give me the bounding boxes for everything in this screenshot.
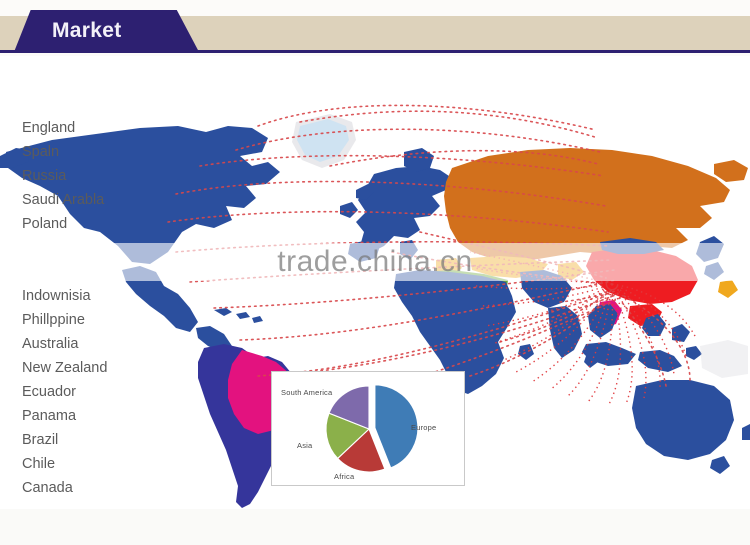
country-item: Russia: [22, 164, 104, 188]
page-header: Market: [0, 0, 750, 56]
market-country-list-group-a: England Spaln Russia Saudi Arabla Poland: [22, 116, 104, 236]
pie-slices: [326, 385, 418, 472]
country-item: Indownisia: [22, 284, 107, 308]
country-item: Spaln: [22, 140, 104, 164]
market-country-list-group-b: Indownisia Phillppine Australia New Zeal…: [22, 284, 107, 500]
country-item: Ecuador: [22, 380, 107, 404]
country-item: Australia: [22, 332, 107, 356]
country-item: Panama: [22, 404, 107, 428]
country-item: Canada: [22, 476, 107, 500]
country-item: Brazil: [22, 428, 107, 452]
market-page: Market .land{fill:#2b4f9e;} .land2{fill:…: [0, 0, 750, 545]
country-item: New Zealand: [22, 356, 107, 380]
country-item: Saudi Arabla: [22, 188, 104, 212]
page-footer: [0, 509, 750, 545]
country-item: Phillppine: [22, 308, 107, 332]
pie-chart-inset: South America Europe Asia Africa: [271, 371, 465, 486]
page-title: Market: [52, 18, 122, 44]
country-item: Poland: [22, 212, 104, 236]
pie-label-europe: Europe: [411, 423, 436, 432]
pie-label-asia: Asia: [297, 441, 312, 450]
country-item: England: [22, 116, 104, 140]
pie-label-africa: Africa: [334, 472, 354, 481]
pie-label-south-america: South America: [281, 388, 332, 397]
country-item: Chile: [22, 452, 107, 476]
